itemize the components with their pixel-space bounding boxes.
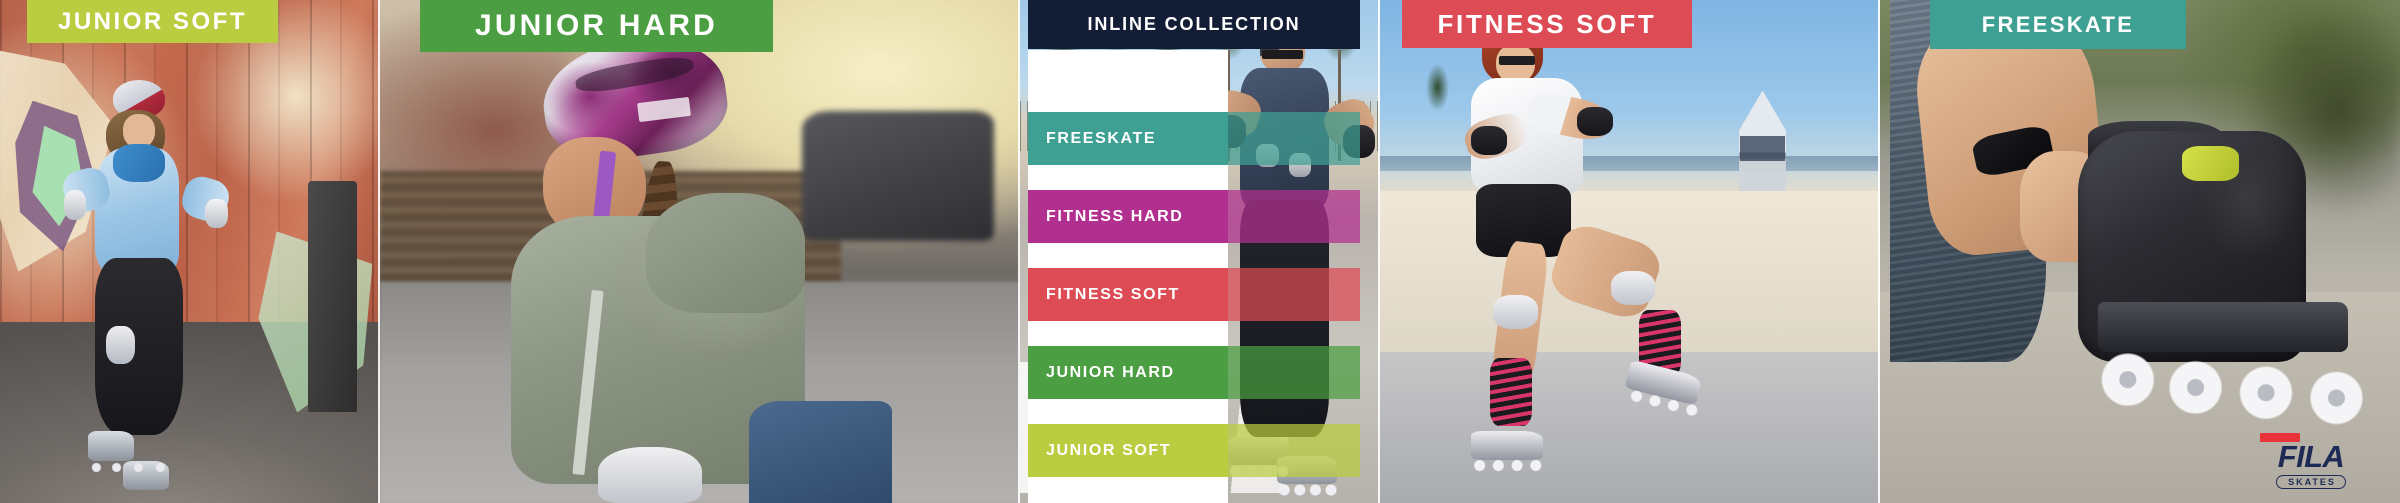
freeskate-photo xyxy=(1880,0,2400,503)
fila-skates-subtitle: SKATES xyxy=(2276,475,2346,489)
legend-swatch-wash xyxy=(1228,424,1360,477)
skate-wheels xyxy=(88,457,172,478)
panel-fitness-soft[interactable]: FITNESS SOFT xyxy=(1380,0,1880,503)
legend-swatch-wash xyxy=(1228,346,1360,399)
knee-pad xyxy=(106,326,136,364)
legend-swatch-wash xyxy=(1228,190,1360,243)
jeans xyxy=(749,401,892,503)
legend-row-freeskate[interactable]: FREESKATE xyxy=(1028,112,1360,165)
legend-label-fitness-hard: FITNESS HARD xyxy=(1028,208,1183,226)
banner-fitness-soft[interactable]: FITNESS SOFT xyxy=(1402,0,1692,48)
fila-skates-logo[interactable]: FILA SKATES xyxy=(2256,433,2366,489)
panel-junior-soft[interactable]: JUNIOR SOFT xyxy=(0,0,380,503)
knee-pad xyxy=(598,447,701,503)
lifeguard-tower-window xyxy=(1740,136,1785,161)
legend-label-freeskate: FREESKATE xyxy=(1028,130,1156,148)
hood xyxy=(646,193,805,313)
skate-left-wheels xyxy=(1471,455,1544,477)
fitness-soft-skater xyxy=(1465,20,1745,503)
panel-seam-2 xyxy=(1018,0,1020,503)
legend-row-junior-soft[interactable]: JUNIOR SOFT xyxy=(1028,424,1360,477)
striped-sock-left xyxy=(1490,358,1532,426)
panel-junior-hard[interactable]: JUNIOR HARD xyxy=(380,0,1020,503)
sunglasses xyxy=(1262,50,1302,59)
scarf xyxy=(113,144,165,182)
banner-junior-soft[interactable]: JUNIOR SOFT xyxy=(27,0,278,43)
street-postbox xyxy=(308,181,357,412)
legend-row-fitness-soft[interactable]: FITNESS SOFT xyxy=(1028,268,1360,321)
face xyxy=(123,114,154,148)
legend-label-junior-soft: JUNIOR SOFT xyxy=(1028,442,1171,460)
fila-wordmark: FILA xyxy=(2278,443,2344,472)
panel-seam-1 xyxy=(378,0,380,503)
banner-junior-hard-label: JUNIOR HARD xyxy=(475,9,718,43)
left-elbow-pad xyxy=(1577,107,1613,136)
junior-soft-skater xyxy=(53,80,228,503)
fitness-soft-photo xyxy=(1380,0,1880,503)
banner-freeskate[interactable]: FREESKATE xyxy=(1930,0,2186,49)
right-elbow-pad xyxy=(205,199,228,229)
collection-legend: FREESKATE FITNESS HARD FITNESS SOFT xyxy=(1028,50,1360,503)
banner-inline-collection-label: INLINE COLLECTION xyxy=(1087,14,1300,35)
palm-tree-1 xyxy=(1420,65,1455,151)
right-elbow-pad xyxy=(1471,126,1507,155)
panel-inline-collection[interactable]: FREESKATE FITNESS HARD FITNESS SOFT xyxy=(1020,0,1380,503)
legend-swatch-wash xyxy=(1228,112,1360,165)
legend-label-fitness-soft: FITNESS SOFT xyxy=(1028,286,1180,304)
junior-hard-photo xyxy=(380,0,1020,503)
left-elbow-pad xyxy=(64,190,87,220)
boot-lime-accent xyxy=(2182,146,2239,181)
knee-pad-right xyxy=(1611,271,1656,305)
panel-seam-3 xyxy=(1378,0,1380,503)
banner-fitness-soft-label: FITNESS SOFT xyxy=(1437,9,1656,40)
panel-seam-4 xyxy=(1878,0,1880,503)
legend-row-junior-hard[interactable]: JUNIOR HARD xyxy=(1028,346,1360,399)
banner-junior-hard[interactable]: JUNIOR HARD xyxy=(420,0,773,52)
legend-row-fitness-hard[interactable]: FITNESS HARD xyxy=(1028,190,1360,243)
banner-junior-soft-label: JUNIOR SOFT xyxy=(58,8,247,36)
banner-inline-collection[interactable]: INLINE COLLECTION xyxy=(1028,0,1360,49)
knee-pad-left xyxy=(1493,295,1538,329)
junior-soft-photo xyxy=(0,0,380,503)
panel-freeskate[interactable]: FREESKATE FILA SKATES xyxy=(1880,0,2400,503)
legend-swatch-wash xyxy=(1228,268,1360,321)
sunglasses xyxy=(1499,56,1535,65)
skate-right-wheels xyxy=(1277,479,1337,500)
inline-collection-banner-strip: JUNIOR SOFT JUNIOR HARD xyxy=(0,0,2400,503)
legend-label-junior-hard: JUNIOR HARD xyxy=(1028,364,1175,382)
banner-freeskate-label: FREESKATE xyxy=(1982,12,2134,38)
junior-hard-girl xyxy=(495,40,892,503)
